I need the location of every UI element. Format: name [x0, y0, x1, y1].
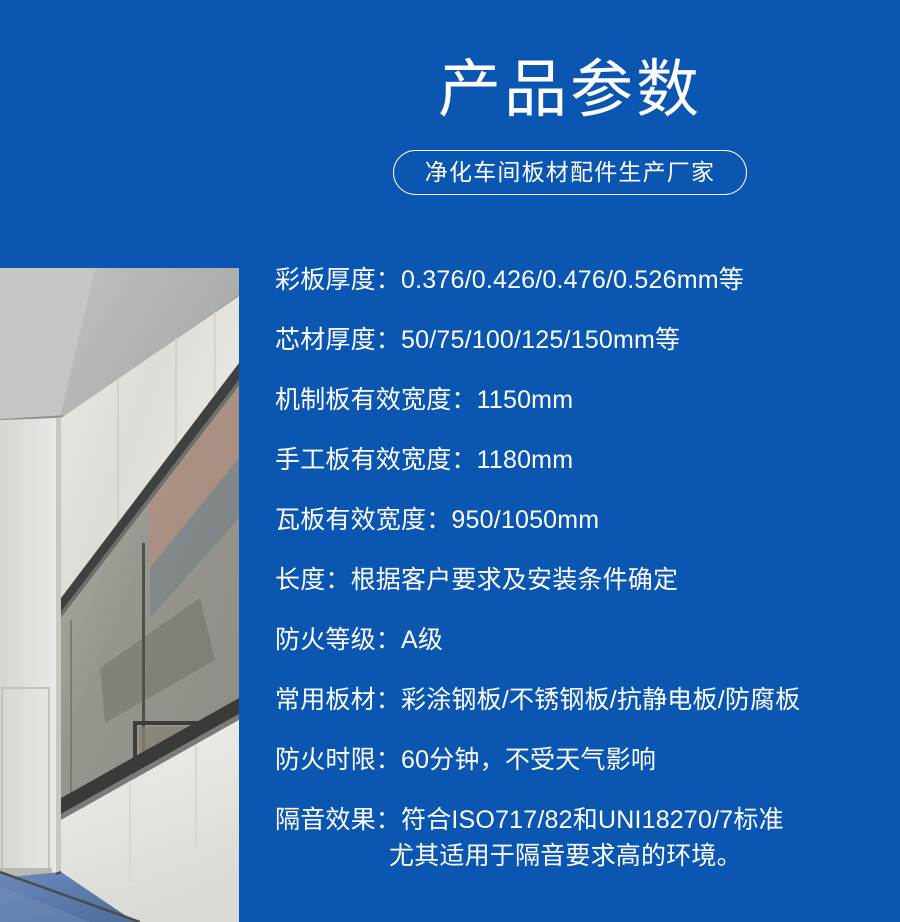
spec-label: 手工板有效宽度： — [275, 442, 477, 478]
spec-row: 手工板有效宽度： 1180mm — [275, 442, 885, 502]
spec-label: 瓦板有效宽度： — [275, 502, 451, 538]
spec-value: 彩涂钢板/不锈钢板/抗静电板/防腐板 — [401, 682, 800, 718]
spec-row: 长度： 根据客户要求及安装条件确定 — [275, 562, 885, 622]
product-spec-poster: 产品参数 净化车间板材配件生产厂家 — [0, 0, 900, 922]
spec-row: 瓦板有效宽度： 950/1050mm — [275, 502, 885, 562]
spec-label: 防火等级： — [275, 622, 401, 658]
cleanroom-photo-illustration — [0, 268, 239, 922]
spec-value: 0.376/0.426/0.476/0.526mm等 — [401, 262, 744, 298]
spec-value: 1180mm — [477, 442, 574, 478]
spec-value: 1150mm — [477, 382, 574, 418]
spec-value: 根据客户要求及安装条件确定 — [351, 562, 679, 598]
spec-label: 芯材厚度： — [275, 322, 401, 358]
spec-label: 彩板厚度： — [275, 262, 401, 298]
spec-row: 防火等级： A级 — [275, 622, 885, 682]
spec-value: 符合ISO717/82和UNI18270/7标准 — [401, 802, 784, 838]
spec-label: 机制板有效宽度： — [275, 382, 477, 418]
subtitle-label: 净化车间板材配件生产厂家 — [425, 161, 715, 184]
page-title: 产品参数 — [438, 52, 702, 128]
spec-row: 防火时限： 60分钟，不受天气影响 — [275, 742, 885, 802]
spec-row: 芯材厚度： 50/75/100/125/150mm等 — [275, 322, 885, 382]
spec-label: 隔音效果： — [275, 802, 401, 838]
spec-row: 常用板材： 彩涂钢板/不锈钢板/抗静电板/防腐板 — [275, 682, 885, 742]
spec-value: A级 — [401, 622, 443, 658]
spec-value: 50/75/100/125/150mm等 — [401, 322, 680, 358]
spec-label: 常用板材： — [275, 682, 401, 718]
cleanroom-photo — [0, 268, 239, 922]
spec-row: 隔音效果： 符合ISO717/82和UNI18270/7标准 尤其适用于隔音要求… — [275, 802, 885, 882]
spec-label: 长度： — [275, 562, 351, 598]
spec-value: 950/1050mm — [451, 502, 599, 538]
poster-header: 产品参数 净化车间板材配件生产厂家 — [240, 0, 900, 250]
spec-row: 机制板有效宽度： 1150mm — [275, 382, 885, 442]
spec-row: 彩板厚度： 0.376/0.426/0.476/0.526mm等 — [275, 262, 885, 322]
subtitle-pill: 净化车间板材配件生产厂家 — [393, 150, 747, 195]
spec-list: 彩板厚度： 0.376/0.426/0.476/0.526mm等 芯材厚度： 5… — [275, 262, 885, 882]
spec-value-continuation: 尤其适用于隔音要求高的环境。 — [275, 838, 742, 874]
spec-label: 防火时限： — [275, 742, 401, 778]
spec-value: 60分钟，不受天气影响 — [401, 742, 656, 778]
